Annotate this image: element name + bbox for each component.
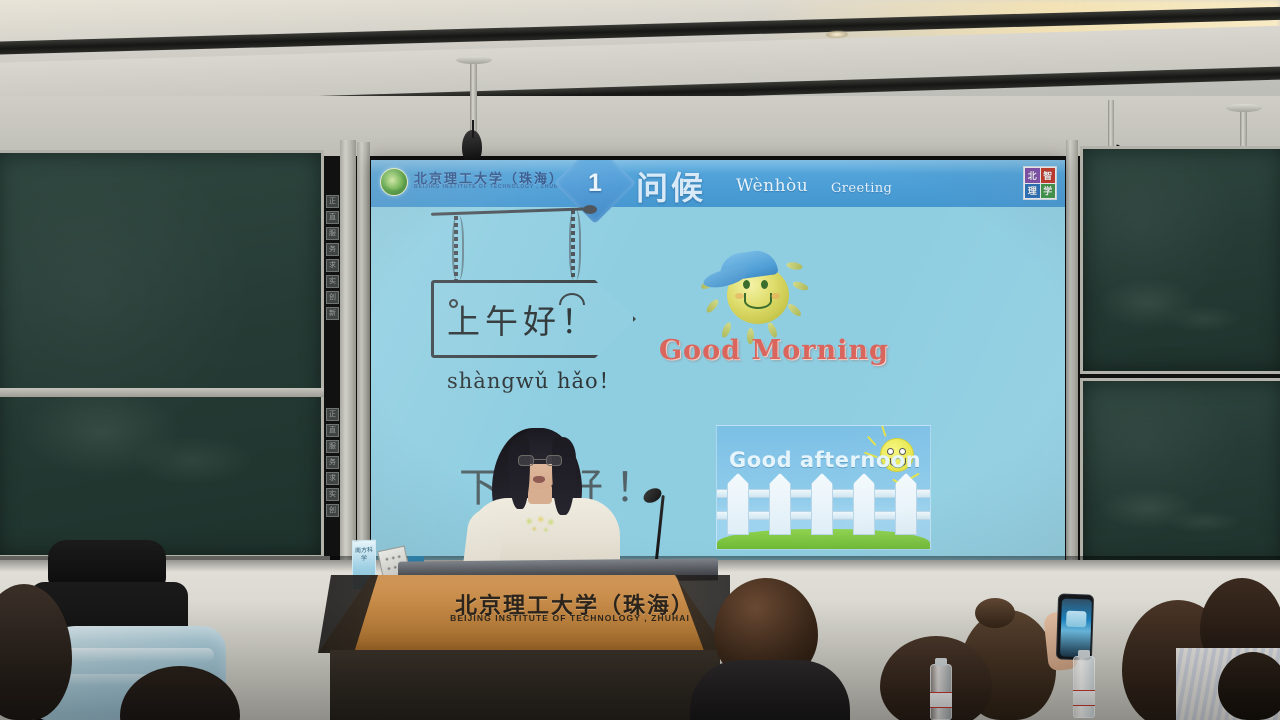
- board-sticker: 求: [326, 472, 339, 485]
- blackboard-left: [0, 150, 324, 558]
- good-morning-wordart: Good Morning: [659, 335, 889, 366]
- morning-greeting-cn: 上午好！: [447, 295, 599, 343]
- blackboard-right-lower: [1080, 378, 1280, 568]
- sun-eye-right: [761, 280, 768, 289]
- seal-char: 学: [1041, 184, 1056, 199]
- sun-ray: [792, 280, 809, 292]
- sun-smile: [744, 293, 772, 309]
- afternoon-sun-ray: [881, 425, 886, 437]
- sun-cheek-right: [771, 293, 780, 299]
- university-logo-icon: [380, 168, 408, 196]
- audience-shoulders: [690, 660, 850, 720]
- presenter-mouth: [533, 476, 545, 483]
- board-sticker: 新: [326, 307, 339, 320]
- board-sticker: 正: [326, 195, 339, 208]
- presenter-blouse-pattern: [522, 514, 558, 538]
- bottle-label: [1073, 690, 1095, 706]
- projection-screen: 北京理工大学（珠海） BEIJING INSTITUTE OF TECHNOLO…: [371, 160, 1065, 572]
- fence-picket: [853, 473, 875, 535]
- blackboard-left-divider: [0, 388, 324, 397]
- slide-title-cn: 问候: [636, 163, 706, 209]
- board-sticker-column-upper: 正 直 服 务 求 实 创 新: [326, 195, 339, 320]
- slide-header-bar: 北京理工大学（珠海） BEIJING INSTITUTE OF TECHNOLO…: [371, 160, 1065, 207]
- fence-picket: [811, 473, 833, 535]
- board-sticker: 创: [326, 291, 339, 304]
- board-sticker: 正: [326, 408, 339, 421]
- lecture-hall-scene: 正 直 服 务 求 实 创 新 正 直 服 务 求 实 创 北京理工大学（珠海）…: [0, 0, 1280, 720]
- board-sticker: 务: [326, 456, 339, 469]
- presenter-hair-left: [508, 437, 530, 509]
- board-sticker: 直: [326, 424, 339, 437]
- glasses-lens-left: [518, 455, 534, 466]
- slide-title-pinyin: Wènhòu: [736, 176, 808, 196]
- sun-with-cap-icon: [699, 244, 819, 344]
- chair-headrest: [48, 540, 166, 588]
- glasses-lens-right: [546, 455, 562, 466]
- presenter-glasses-icon: [518, 455, 562, 466]
- morning-greeting-pinyin: shàngwǔ hǎo！: [447, 365, 621, 395]
- bottle-cap: [935, 658, 947, 666]
- phone-screen[interactable]: [1060, 599, 1092, 658]
- board-sticker: 务: [326, 243, 339, 256]
- ceiling-mount-right-plate: [1226, 104, 1262, 112]
- ceiling-mount-left-plate: [456, 56, 492, 64]
- board-sticker-column-lower: 正 直 服 务 求 实 创: [326, 408, 339, 517]
- board-sticker: 求: [326, 259, 339, 272]
- board-sticker: 直: [326, 211, 339, 224]
- seal-char: 北: [1025, 168, 1040, 183]
- fence-picket: [769, 473, 791, 535]
- sun-eye-left: [743, 280, 750, 289]
- board-sticker: 创: [326, 504, 339, 517]
- sign-chain-right: [571, 210, 575, 280]
- audience-head: [1218, 652, 1280, 720]
- seal-char: 智: [1041, 168, 1056, 183]
- desk-sign-text: 南方科学: [353, 547, 375, 564]
- audience-hair-bun: [975, 598, 1015, 628]
- board-sticker: 实: [326, 275, 339, 288]
- seal-char: 理: [1025, 184, 1040, 199]
- board-sticker: 服: [326, 440, 339, 453]
- slide-university-name-en: BEIJING INSTITUTE OF TECHNOLOGY , ZHUHAI: [414, 184, 565, 190]
- chain-anchor-knob: [583, 205, 597, 214]
- water-bottle: [1073, 656, 1095, 718]
- sign-chain-left: [454, 216, 458, 280]
- morning-sign-text-wrap: 上午好！: [431, 280, 636, 358]
- ceiling-mount-center-right: [1108, 100, 1114, 146]
- board-frame-screen-right: [1066, 140, 1078, 570]
- blackboard-right-upper: [1080, 146, 1280, 374]
- bottle-label: [930, 692, 952, 708]
- sun-ray: [705, 298, 721, 315]
- board-sticker: 实: [326, 488, 339, 501]
- board-frame-center-left: [340, 140, 356, 568]
- bottle-cap: [1078, 650, 1090, 658]
- lesson-number-label: 1: [566, 160, 624, 212]
- fence-picket: [727, 473, 749, 535]
- board-sticker: 服: [326, 227, 339, 240]
- good-afternoon-card: Good afternoon: [716, 425, 931, 550]
- fence-picket: [895, 473, 917, 535]
- afternoon-sun-ray: [867, 436, 876, 446]
- sun-cheek-left: [735, 293, 744, 299]
- board-frame-screen-left: [357, 142, 370, 572]
- glasses-bridge: [534, 459, 546, 460]
- afternoon-fence: [717, 469, 930, 535]
- course-seal-icon: 北 智 理 学: [1023, 166, 1057, 200]
- podium-base: [330, 650, 720, 720]
- podium-university-name-en: BEIJING INSTITUTE OF TECHNOLOGY , ZHUHAI: [445, 613, 695, 623]
- hanging-mic-left-cable: [472, 120, 474, 138]
- slide-title-en: Greeting: [831, 181, 892, 196]
